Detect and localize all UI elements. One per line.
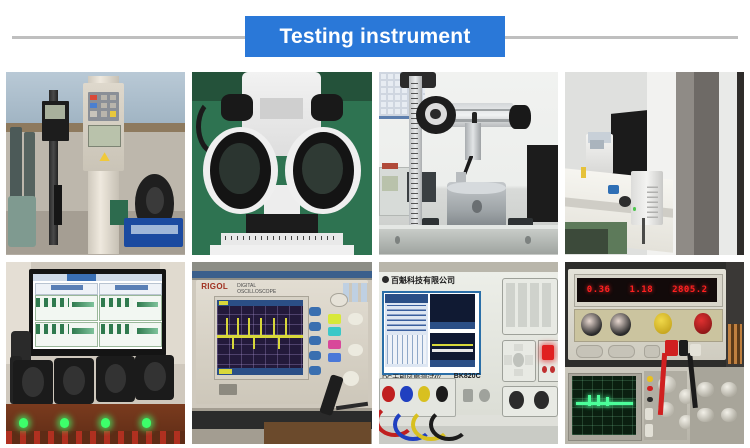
photo-height-gauge bbox=[6, 72, 185, 255]
photo-stereo-microscope bbox=[192, 72, 371, 255]
photo-torque-test-stand bbox=[379, 72, 558, 255]
photo-bk820c-fan-tester: 百魁科技有限公司 DC无刷风扇测试仪 BK820C bbox=[379, 262, 558, 445]
psu-led-readout: 0.36 1.18 2805.2 bbox=[577, 278, 717, 302]
tester-company-label: 百魁科技有限公司 bbox=[391, 275, 455, 286]
psu-led-value-1: 0.36 bbox=[587, 285, 611, 295]
gallery-item-workstation-bench[interactable] bbox=[565, 72, 744, 255]
header-rule-left bbox=[12, 36, 257, 39]
oscilloscope-model-label: DIGITAL OSCILLOSCOPE bbox=[237, 283, 276, 290]
oscilloscope-brand-label: RIGOL bbox=[201, 282, 240, 292]
gallery-item-height-gauge[interactable] bbox=[6, 72, 185, 255]
gallery-item-bk820c-fan-tester[interactable]: 百魁科技有限公司 DC无刷风扇测试仪 BK820C bbox=[379, 262, 558, 445]
photo-workstation-bench bbox=[565, 72, 744, 255]
photo-dc-power-supply-scope: 0.36 1.18 2805.2 bbox=[565, 262, 744, 445]
gallery-item-stereo-microscope[interactable] bbox=[192, 72, 371, 255]
gallery-item-torque-test-stand[interactable] bbox=[379, 72, 558, 255]
tester-model-label: BK820C bbox=[454, 373, 481, 380]
page-title: Testing instrument bbox=[279, 26, 470, 47]
instrument-photo-gallery: RIGOL DIGITAL OSCILLOSCOPE bbox=[6, 72, 744, 444]
section-header: Testing instrument bbox=[0, 0, 750, 70]
psu-led-value-2: 1.18 bbox=[629, 285, 653, 295]
gallery-item-rigol-oscilloscope[interactable]: RIGOL DIGITAL OSCILLOSCOPE bbox=[192, 262, 371, 445]
photo-rigol-oscilloscope: RIGOL DIGITAL OSCILLOSCOPE bbox=[192, 262, 371, 445]
psu-led-value-3: 2805.2 bbox=[672, 285, 708, 295]
header-rule-right bbox=[493, 36, 738, 39]
page-root: Testing instrument bbox=[0, 0, 750, 448]
photo-fan-burn-in-rack bbox=[6, 262, 185, 445]
gallery-item-dc-power-supply-scope[interactable]: 0.36 1.18 2805.2 bbox=[565, 262, 744, 445]
header-banner: Testing instrument bbox=[245, 16, 505, 57]
gallery-item-fan-burn-in-rack[interactable] bbox=[6, 262, 185, 445]
